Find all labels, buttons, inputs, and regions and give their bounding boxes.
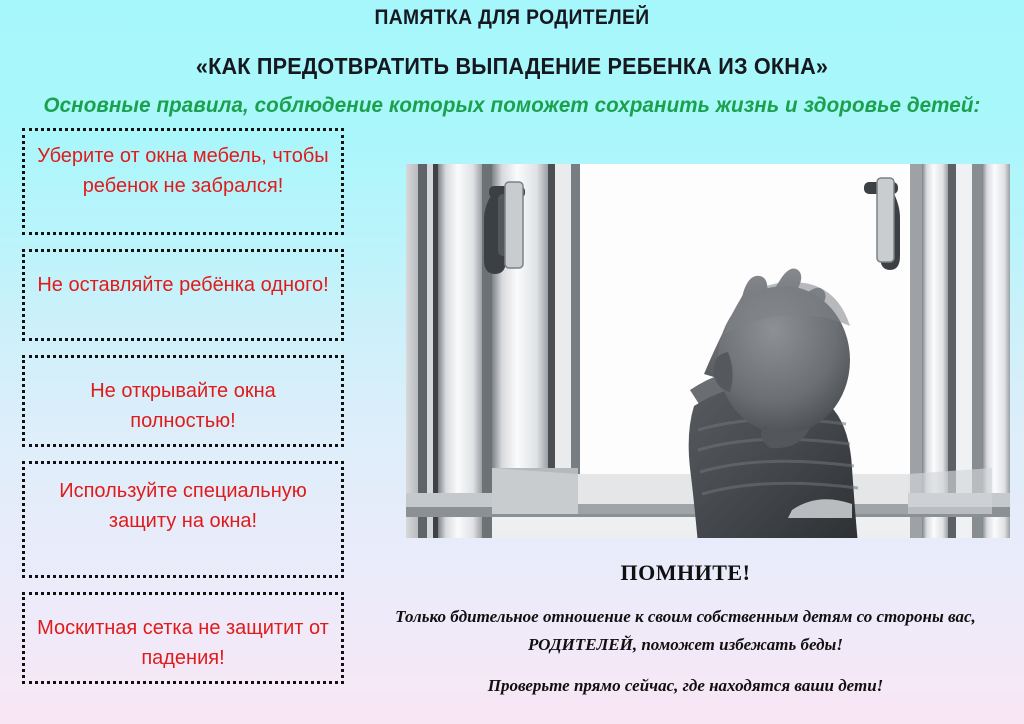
rule-item-3: Не открывайте окна полностью!	[22, 355, 344, 447]
poster-header: ПАМЯТКА ДЛЯ РОДИТЕЛЕЙ «КАК ПРЕДОТВРАТИТЬ…	[0, 0, 1024, 118]
page-lead-text: Основные правила, соблюдение которых пом…	[10, 80, 1014, 118]
rules-list: Уберите от окна мебель, чтобы ребенок не…	[22, 128, 344, 684]
remember-body: Только бдительное отношение к своим собс…	[358, 586, 1013, 658]
rule-item-5: Москитная сетка не защитит от падения!	[22, 592, 344, 684]
rule-item-4: Используйте специальную защиту на окна!	[22, 461, 344, 578]
remember-title: ПОМНИТЕ!	[358, 560, 1013, 586]
remember-check-now: Проверьте прямо сейчас, где находятся ва…	[358, 658, 1013, 696]
page-title: ПАМЯТКА ДЛЯ РОДИТЕЛЕЙ	[41, 0, 983, 30]
child-at-window-illustration	[372, 138, 1010, 538]
remember-body-part1: Только бдительное отношение к своим собс…	[395, 607, 976, 626]
remember-body-emphasis: РОДИТЕЛЕЙ	[528, 635, 633, 654]
remember-body-part2: , поможет избежать беды!	[633, 635, 843, 654]
poster-root: ПАМЯТКА ДЛЯ РОДИТЕЛЕЙ «КАК ПРЕДОТВРАТИТЬ…	[0, 0, 1024, 724]
rule-item-1: Уберите от окна мебель, чтобы ребенок не…	[22, 128, 344, 235]
child-at-window-photo	[372, 138, 1010, 538]
remember-section: ПОМНИТЕ! Только бдительное отношение к с…	[358, 560, 1013, 696]
page-subtitle: «КАК ПРЕДОТВРАТИТЬ ВЫПАДЕНИЕ РЕБЕНКА ИЗ …	[31, 30, 994, 80]
rule-item-2: Не оставляйте ребёнка одного!	[22, 249, 344, 341]
